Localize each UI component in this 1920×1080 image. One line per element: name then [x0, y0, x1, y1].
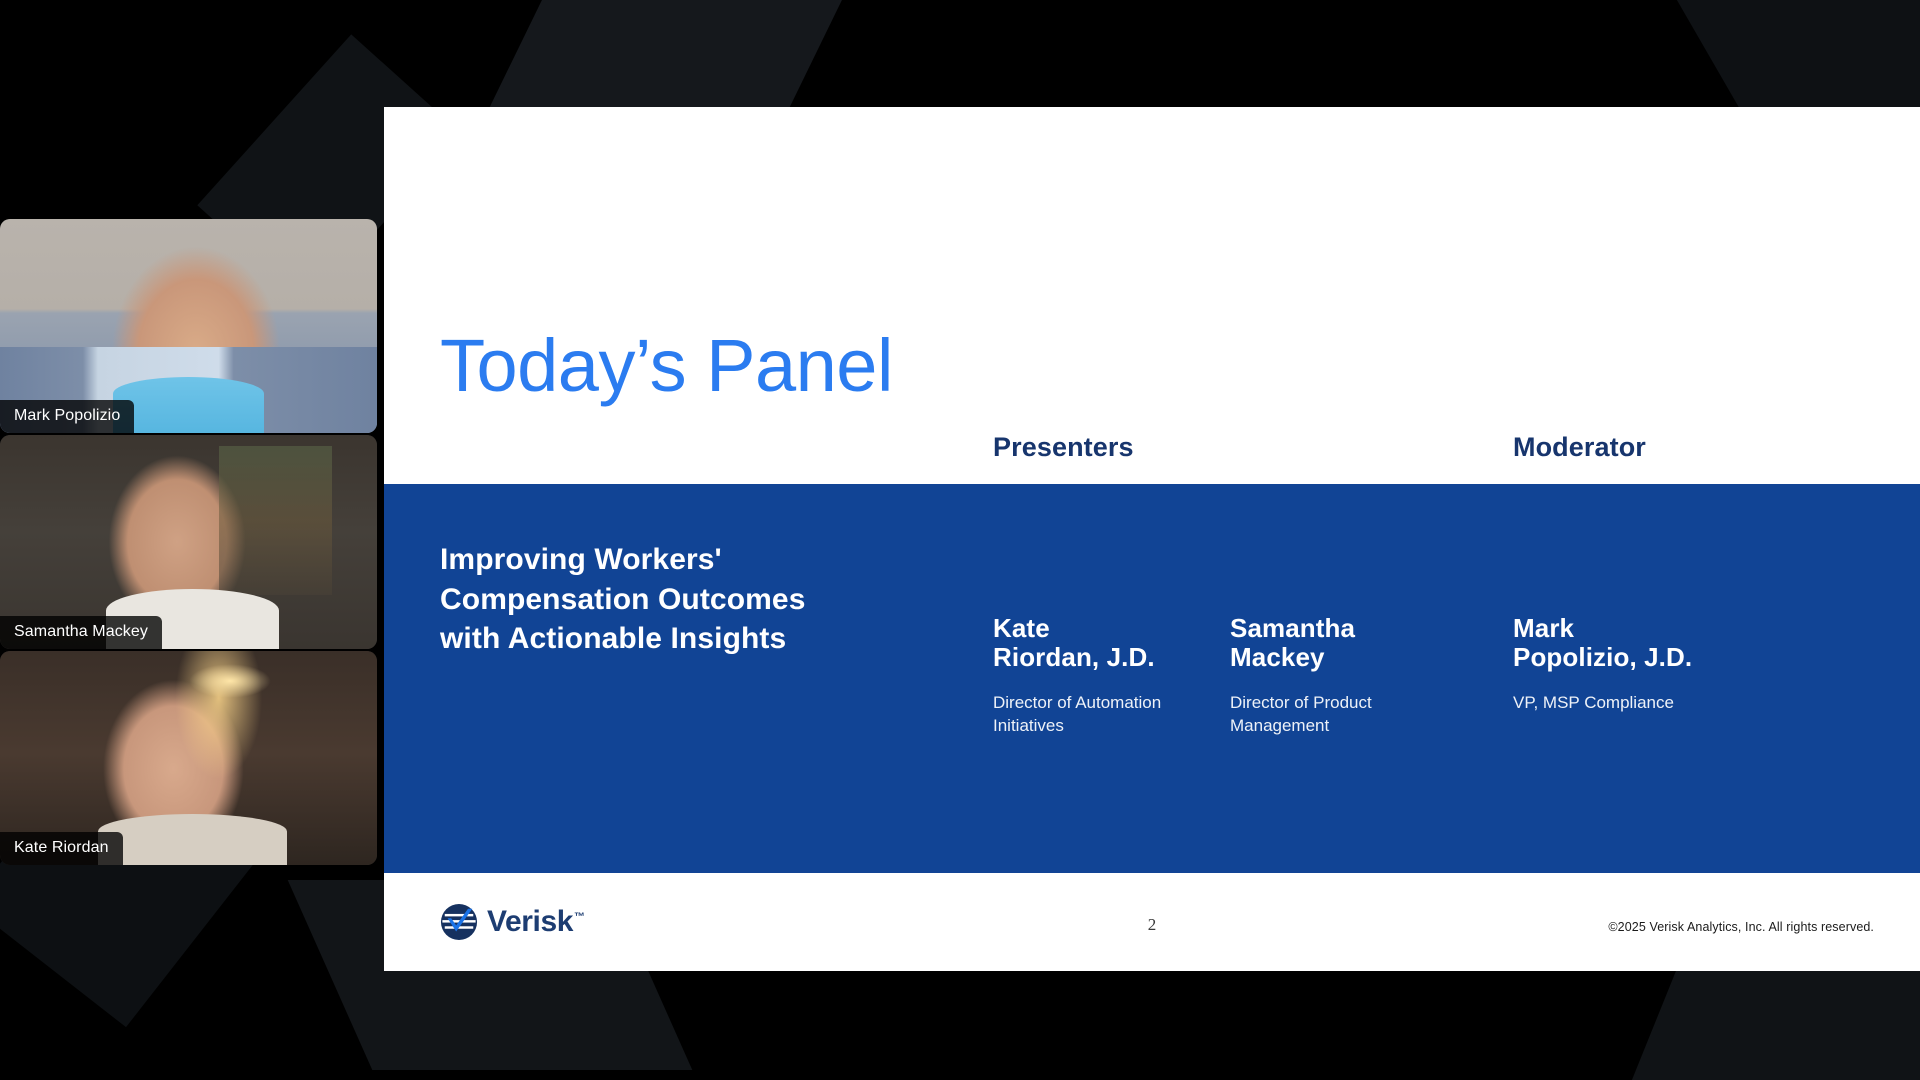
panelist-name-line2: Riordan, J.D. — [993, 642, 1155, 672]
participant-name-label: Kate Riordan — [0, 832, 123, 865]
panelist-role: VP, MSP Compliance — [1513, 692, 1743, 715]
panelist-name: Mark Popolizio, J.D. — [1513, 614, 1743, 672]
video-tile-kate-riordan[interactable]: Kate Riordan — [0, 651, 377, 865]
video-tile-mark-popolizio[interactable]: Mark Popolizio — [0, 219, 377, 433]
participant-name-label: Mark Popolizio — [0, 400, 134, 433]
panelist-name: Samantha Mackey — [1230, 614, 1450, 672]
column-heading-presenters: Presenters — [993, 432, 1134, 463]
panelist-name: Kate Riordan, J.D. — [993, 614, 1213, 672]
slide-blue-band: Improving Workers' Compensation Outcomes… — [384, 484, 1920, 873]
panelist-name-line1: Kate — [993, 613, 1050, 643]
panelist-role: Director of Product Management — [1230, 692, 1450, 738]
panelist-samantha-mackey: Samantha Mackey Director of Product Mana… — [1230, 614, 1450, 738]
panelist-name-line1: Mark — [1513, 613, 1574, 643]
backdrop-shape — [1600, 960, 1920, 1080]
participant-name-label: Samantha Mackey — [0, 616, 162, 649]
panelist-name-line2: Popolizio, J.D. — [1513, 642, 1692, 672]
panelist-name-line2: Mackey — [1230, 642, 1325, 672]
webinar-subtitle: Improving Workers' Compensation Outcomes… — [440, 540, 860, 659]
video-tile-samantha-mackey[interactable]: Samantha Mackey — [0, 435, 377, 649]
slide-top-section: Today’s Panel Presenters Moderator — [384, 107, 1920, 484]
screen-share-stage: Mark Popolizio Samantha Mackey Kate Rior… — [0, 0, 1920, 1080]
participant-video-rail: Mark Popolizio Samantha Mackey Kate Rior… — [0, 219, 377, 867]
panelist-role: Director of Automation Initiatives — [993, 692, 1213, 738]
copyright-notice: ©2025 Verisk Analytics, Inc. All rights … — [1608, 920, 1874, 934]
panelist-name-line1: Samantha — [1230, 613, 1355, 643]
page-title: Today’s Panel — [440, 329, 893, 403]
slide-footer: Verisk™ 2 ©2025 Verisk Analytics, Inc. A… — [384, 873, 1920, 971]
panelist-kate-riordan: Kate Riordan, J.D. Director of Automatio… — [993, 614, 1213, 738]
column-heading-moderator: Moderator — [1513, 432, 1646, 463]
panelist-mark-popolizio: Mark Popolizio, J.D. VP, MSP Compliance — [1513, 614, 1743, 715]
shared-slide[interactable]: Today’s Panel Presenters Moderator — [384, 107, 1920, 971]
